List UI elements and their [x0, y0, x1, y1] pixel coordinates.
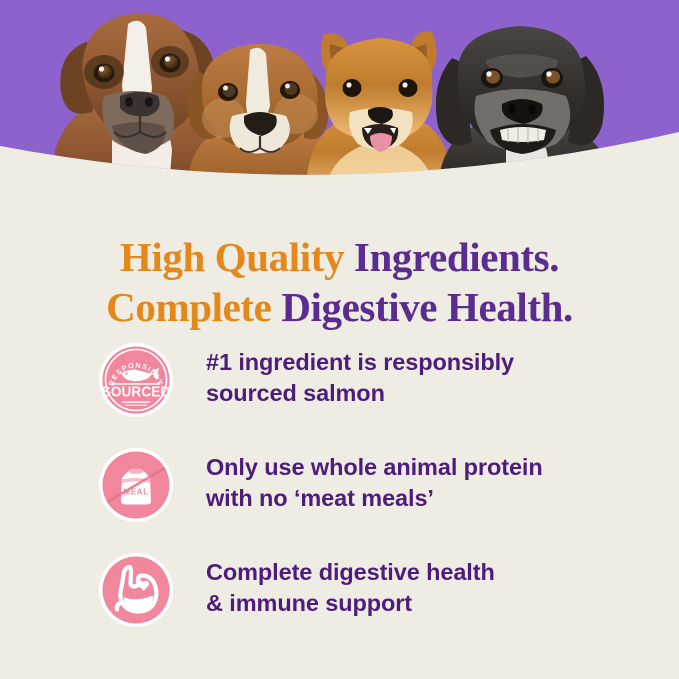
- hero-banner: [0, 0, 679, 200]
- stomach-heart-digestive-health-badge-icon: [96, 550, 176, 630]
- benefit-text: #1 ingredient is responsibly sourced sal…: [206, 338, 514, 409]
- product-benefits-infographic: High Quality Ingredients. Complete Diges…: [0, 0, 679, 679]
- no-meal-bag-badge-icon: MEAL: [96, 445, 176, 525]
- benefit-text-line-2: & immune support: [206, 588, 495, 619]
- meal-bag-icon: MEAL: [121, 469, 151, 505]
- benefit-text: Complete digestive health & immune suppo…: [206, 548, 495, 619]
- benefit-text-line-1: Only use whole animal protein: [206, 452, 543, 483]
- benefit-item-digestive-health: Complete digestive health & immune suppo…: [96, 548, 616, 653]
- benefit-text-line-1: Complete digestive health: [206, 557, 495, 588]
- headline-line-2-orange: Complete: [106, 284, 281, 330]
- benefit-item-responsibly-sourced: RESPONSIBLY SOURCED: [96, 338, 616, 443]
- headline-line-1-orange: High Quality: [120, 234, 354, 280]
- headline-line-1: High Quality Ingredients.: [0, 232, 679, 282]
- benefits-list: RESPONSIBLY SOURCED: [96, 338, 616, 653]
- headline-line-2: Complete Digestive Health.: [0, 282, 679, 332]
- responsibly-sourced-fish-badge-icon: RESPONSIBLY SOURCED: [96, 340, 176, 420]
- benefit-text-line-2: sourced salmon: [206, 378, 514, 409]
- hero-dogs-illustration: [0, 0, 679, 200]
- benefit-text-line-1: #1 ingredient is responsibly: [206, 347, 514, 378]
- benefit-text-line-2: with no ‘meat meals’: [206, 483, 543, 514]
- benefit-item-no-meat-meals: MEAL Only use whole animal protein with …: [96, 443, 616, 548]
- headline-line-2-purple: Digestive Health.: [281, 284, 573, 330]
- benefit-text: Only use whole animal protein with no ‘m…: [206, 443, 543, 514]
- page-title: High Quality Ingredients. Complete Diges…: [0, 232, 679, 332]
- badge-label: SOURCED: [102, 383, 171, 399]
- headline-line-1-purple: Ingredients.: [354, 234, 559, 280]
